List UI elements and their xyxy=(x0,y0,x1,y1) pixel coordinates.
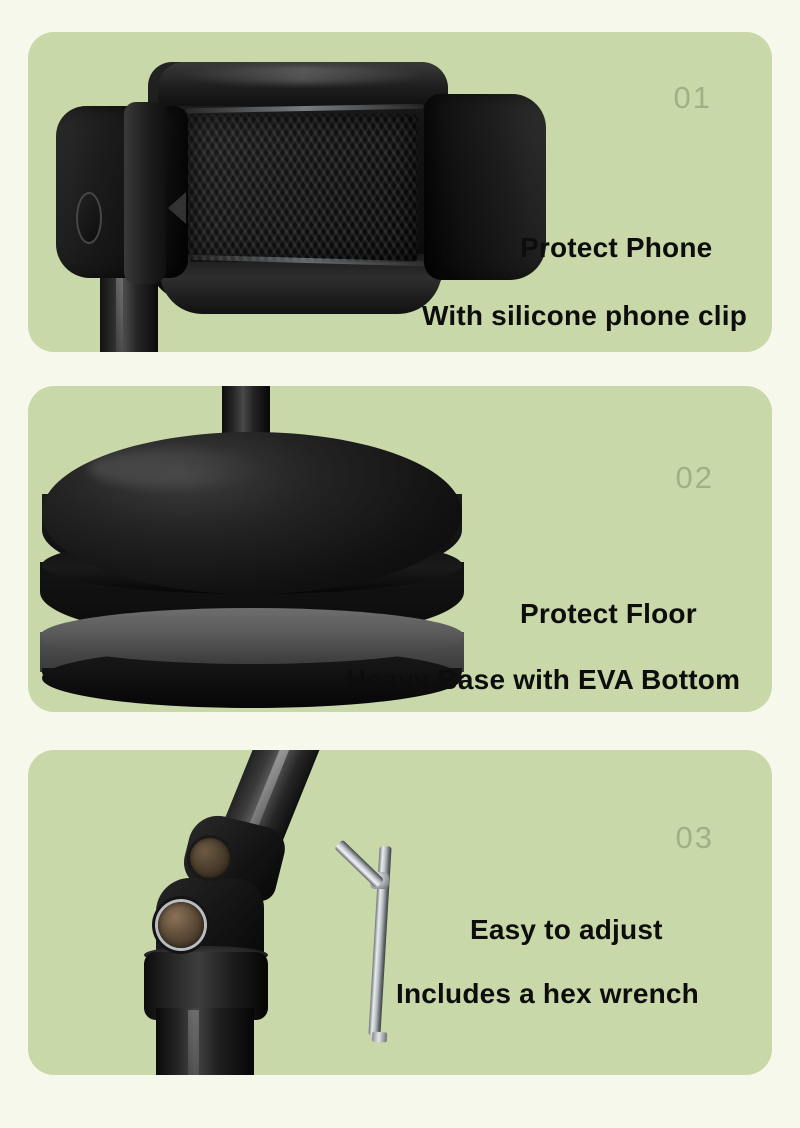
panel-2-title: Protect Floor xyxy=(520,598,697,630)
specular-highlight xyxy=(88,448,268,488)
feature-infographic: 01 Protect Phone With silicone phone cli… xyxy=(0,0,800,1128)
product-photo-joint xyxy=(28,750,772,1075)
upper-pivot-knob xyxy=(190,838,230,878)
feature-panel-3: 03 Easy to adjust Includes a hex wrench xyxy=(28,750,772,1075)
eva-bottom-ring xyxy=(40,608,464,664)
silicone-grip-pad xyxy=(188,114,418,262)
panel-1-subtitle: With silicone phone clip xyxy=(422,300,747,332)
clamp-release-button xyxy=(76,192,102,244)
step-number-01: 01 xyxy=(674,80,712,116)
pole-highlight xyxy=(188,1010,199,1075)
left-arrow-icon xyxy=(168,192,186,224)
hex-wrench-short-arm xyxy=(334,839,384,888)
hex-wrench-tip xyxy=(372,1032,388,1043)
panel-1-title: Protect Phone xyxy=(520,232,712,264)
feature-panel-2: 02 Protect Floor Heavy Base with EVA Bot… xyxy=(28,386,772,712)
specular-highlight xyxy=(178,66,428,84)
panel-2-subtitle: Heavy Base with EVA Bottom xyxy=(346,664,740,696)
step-number-02: 02 xyxy=(676,460,714,496)
left-clamp-inner-face xyxy=(124,102,166,284)
lower-pivot-knob xyxy=(158,902,204,948)
feature-panel-1: 01 Protect Phone With silicone phone cli… xyxy=(28,32,772,352)
panel-3-title: Easy to adjust xyxy=(470,914,663,946)
support-pole xyxy=(156,1008,254,1075)
step-number-03: 03 xyxy=(676,820,714,856)
panel-3-subtitle: Includes a hex wrench xyxy=(396,978,699,1010)
